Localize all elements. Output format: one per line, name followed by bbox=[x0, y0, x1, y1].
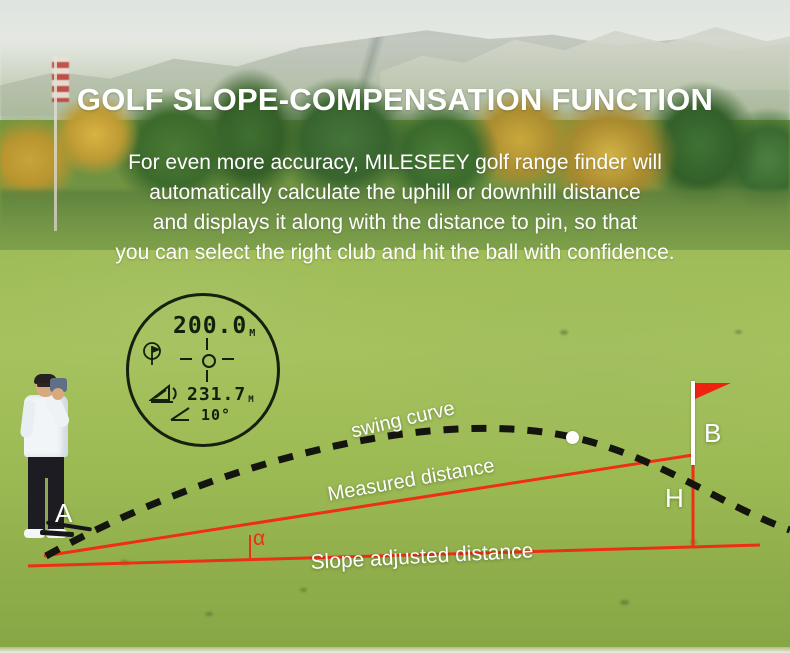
crosshair-reticle-icon bbox=[184, 340, 232, 380]
main-distance-value: 200.0 bbox=[173, 313, 247, 339]
angle-icon bbox=[169, 406, 191, 422]
angle-readout: 10° bbox=[201, 406, 231, 424]
label-angle-alpha: α bbox=[253, 527, 265, 551]
slope-distance-readout: 231.7M bbox=[187, 384, 255, 405]
main-distance-unit: M bbox=[249, 328, 256, 339]
promo-image: GOLF SLOPE-COMPENSATION FUNCTION For eve… bbox=[0, 0, 790, 653]
golfer-hand bbox=[52, 388, 64, 400]
measured-distance-line bbox=[44, 455, 693, 556]
pin-flag-icon bbox=[695, 383, 731, 415]
main-distance-readout: 200.0M bbox=[173, 313, 256, 339]
label-point-a: A bbox=[55, 498, 72, 529]
label-point-b: B bbox=[704, 418, 721, 449]
reticle-tick-top bbox=[206, 338, 208, 350]
reticle-tick-left bbox=[180, 358, 192, 360]
slope-icon bbox=[149, 382, 183, 404]
flag-in-circle-icon bbox=[141, 342, 167, 368]
golf-club-secondary bbox=[40, 530, 74, 537]
rangefinder-viewfinder: 200.0M 231.7M 10° bbox=[126, 293, 280, 447]
slope-distance-value: 231.7 bbox=[187, 384, 246, 405]
reticle-tick-bottom bbox=[206, 370, 208, 382]
golf-ball bbox=[566, 431, 579, 444]
label-point-h: H bbox=[665, 483, 684, 514]
reticle-ring bbox=[202, 354, 216, 368]
pin-flag-pole bbox=[691, 381, 695, 465]
reticle-tick-right bbox=[222, 358, 234, 360]
slope-distance-unit: M bbox=[248, 395, 254, 405]
